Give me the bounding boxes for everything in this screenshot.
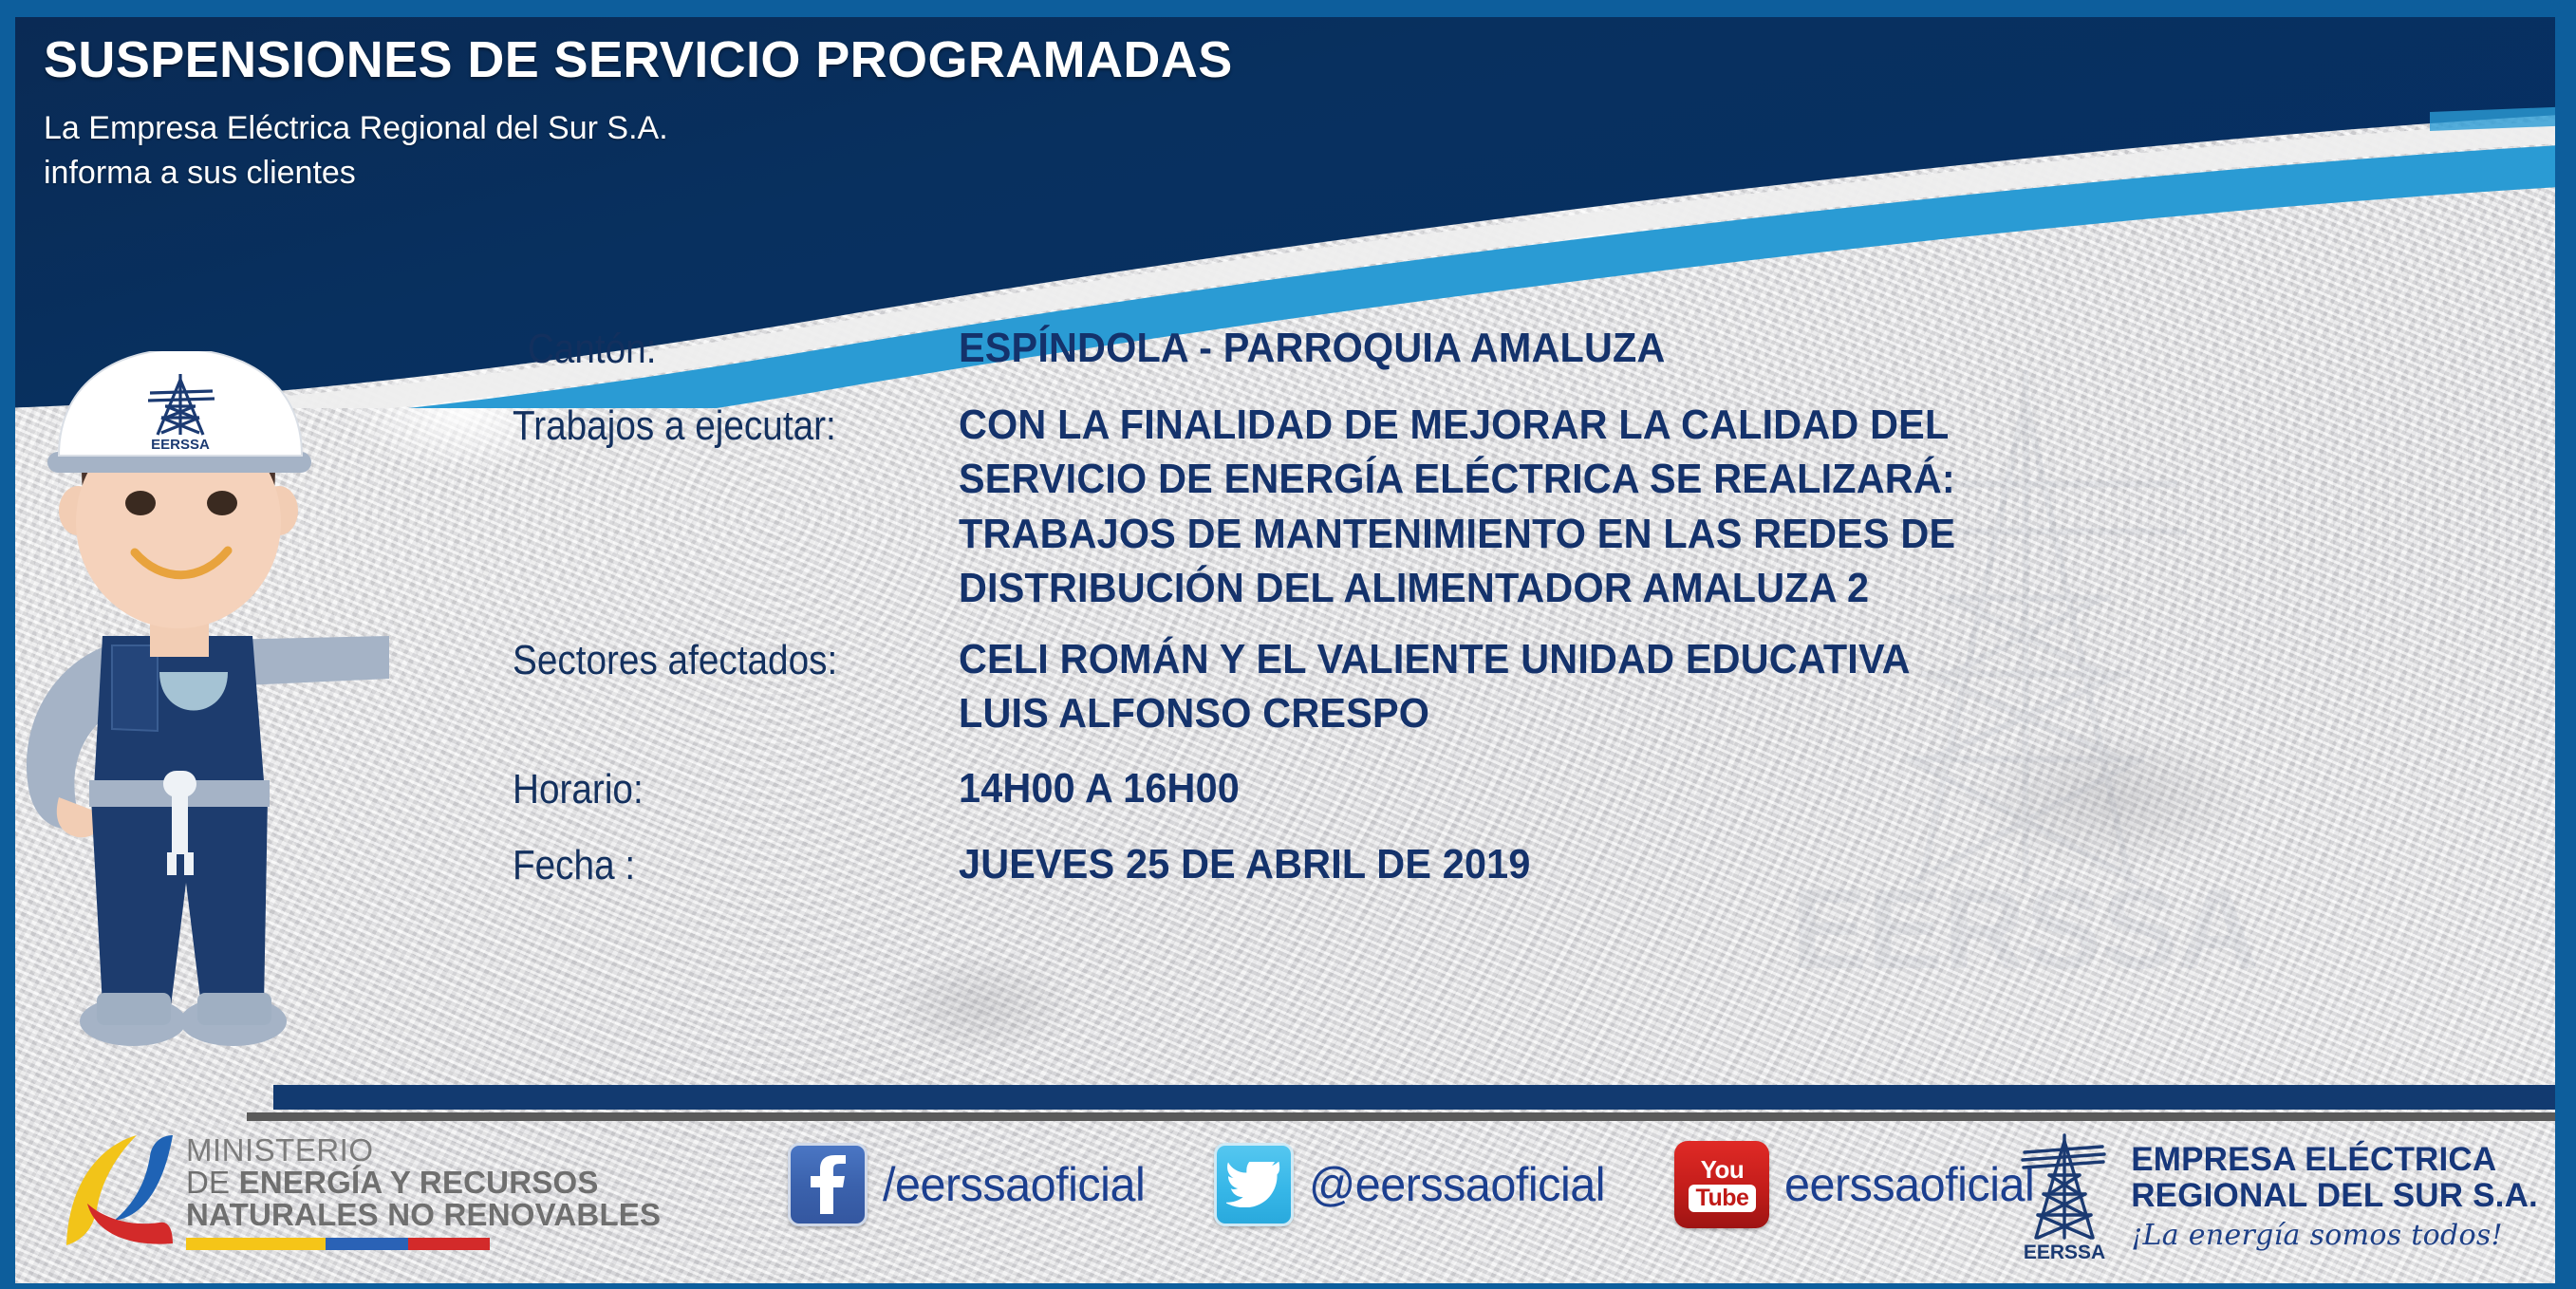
youtube-link[interactable]: You Tube eerssaoficial (1674, 1141, 2042, 1228)
facebook-link[interactable]: /eerssaoficial (788, 1143, 1153, 1226)
value-sectores: CELI ROMÁN Y EL VALIENTE UNIDAD EDUCATIV… (959, 632, 1911, 740)
page-title: SUSPENSIONES DE SERVICIO PROGRAMADAS (44, 34, 1233, 85)
header-subtitle-line2: informa a sus clientes (44, 151, 1233, 196)
value-trabajos: CON LA FINALIDAD DE MEJORAR LA CALIDAD D… (959, 398, 1955, 615)
detail-row-sectores: Sectores afectados: CELI ROMÁN Y EL VALI… (513, 632, 2515, 740)
twitter-handle[interactable]: @eerssaoficial (1309, 1157, 1605, 1212)
value-fecha: JUEVES 25 DE ABRIL DE 2019 (959, 837, 1531, 891)
frame-top-edge (0, 0, 2576, 17)
label-fecha: Fecha : (513, 837, 905, 891)
youtube-you-text: You (1701, 1157, 1745, 1182)
value-sectores-line-1: CELI ROMÁN Y EL VALIENTE UNIDAD EDUCATIV… (959, 632, 1911, 686)
company-line-1: EMPRESA ELÉCTRICA (2131, 1142, 2538, 1177)
value-horario-line: 14H00 A 16H00 (959, 761, 1240, 815)
company-slogan: ¡La energía somos todos! (2131, 1219, 2538, 1252)
service-suspension-poster: EERSSA SUSPENSIONES DE SERVICIO PROGRAMA… (0, 0, 2576, 1289)
label-sectores: Sectores afectados: (513, 632, 905, 686)
helmet-logo-text: EERSSA (151, 437, 210, 453)
value-canton: ESPÍNDOLA - PARROQUIA AMALUZA (959, 321, 1666, 375)
ministry-line-2-bold: ENERGÍA Y RECURSOS (239, 1165, 599, 1200)
worker-mascot-illustration: EERSSA (0, 351, 389, 1120)
ministry-line-1: MINISTERIO (186, 1134, 661, 1167)
eerssa-logo: EERSSA EMPRESA ELÉCTRICA REGIONAL DEL SU… (2011, 1126, 2538, 1268)
eerssa-wordmark: EMPRESA ELÉCTRICA REGIONAL DEL SUR S.A. … (2131, 1142, 2538, 1251)
header-text-block: SUSPENSIONES DE SERVICIO PROGRAMADAS La … (44, 34, 1233, 196)
frame-bottom-edge (0, 1283, 2576, 1289)
eerssa-mark-text: EERSSA (2024, 1242, 2105, 1263)
facebook-icon[interactable] (788, 1143, 868, 1226)
detail-row-canton: Cantón: ESPÍNDOLA - PARROQUIA AMALUZA (513, 321, 2515, 375)
value-canton-line: ESPÍNDOLA - PARROQUIA AMALUZA (959, 321, 1666, 375)
value-horario: 14H00 A 16H00 (959, 761, 1240, 815)
label-trabajos: Trabajos a ejecutar: (513, 398, 905, 452)
ministry-line-2: DE ENERGÍA Y RECURSOS (186, 1167, 661, 1199)
youtube-icon[interactable]: You Tube (1674, 1141, 1769, 1228)
company-line-2: REGIONAL DEL SUR S.A. (2131, 1178, 2538, 1213)
label-canton: Cantón: (513, 321, 905, 375)
header-subtitle: La Empresa Eléctrica Regional del Sur S.… (44, 106, 1233, 196)
ministry-line-2-light: DE (186, 1165, 239, 1200)
twitter-icon[interactable] (1214, 1143, 1294, 1226)
facebook-handle[interactable]: /eerssaoficial (883, 1157, 1145, 1212)
ministry-logo: MINISTERIO DE ENERGÍA Y RECURSOS NATURAL… (59, 1130, 661, 1255)
frame-right-edge (2555, 0, 2576, 1289)
detail-row-trabajos: Trabajos a ejecutar: CON LA FINALIDAD DE… (513, 398, 2515, 615)
detail-row-horario: Horario: 14H00 A 16H00 (513, 761, 2515, 815)
ministry-line-3: NATURALES NO RENOVABLES (186, 1199, 661, 1231)
value-trabajos-line-4: DISTRIBUCIÓN DEL ALIMENTADOR AMALUZA 2 (959, 561, 1955, 615)
value-trabajos-line-2: SERVICIO DE ENERGÍA ELÉCTRICA SE REALIZA… (959, 452, 1955, 506)
detail-row-fecha: Fecha : JUEVES 25 DE ABRIL DE 2019 (513, 837, 2515, 891)
social-links: /eerssaoficial @eerssaoficial You Tube e… (788, 1141, 2103, 1228)
label-horario: Horario: (513, 761, 905, 815)
ministry-wordmark: MINISTERIO DE ENERGÍA Y RECURSOS NATURAL… (186, 1134, 661, 1249)
header-subtitle-line1: La Empresa Eléctrica Regional del Sur S.… (44, 106, 1233, 151)
twitter-link[interactable]: @eerssaoficial (1214, 1143, 1615, 1226)
value-fecha-line: JUEVES 25 DE ABRIL DE 2019 (959, 837, 1531, 891)
youtube-tube-text: Tube (1689, 1185, 1757, 1212)
ecuador-flag-bar (186, 1238, 490, 1250)
ecuador-swoosh-icon (59, 1130, 180, 1255)
youtube-handle[interactable]: eerssaoficial (1784, 1157, 2034, 1212)
value-sectores-line-2: LUIS ALFONSO CRESPO (959, 686, 1911, 740)
transmission-tower-icon: EERSSA (2011, 1126, 2118, 1268)
footer-bar: MINISTERIO DE ENERGÍA Y RECURSOS NATURAL… (0, 1116, 2576, 1283)
value-trabajos-line-3: TRABAJOS DE MANTENIMIENTO EN LAS REDES D… (959, 507, 1955, 561)
frame-left-edge (0, 0, 15, 1289)
value-trabajos-line-1: CON LA FINALIDAD DE MEJORAR LA CALIDAD D… (959, 398, 1955, 452)
footer-divider-navy (273, 1085, 2555, 1110)
details-list: Cantón: ESPÍNDOLA - PARROQUIA AMALUZA Tr… (513, 321, 2515, 897)
